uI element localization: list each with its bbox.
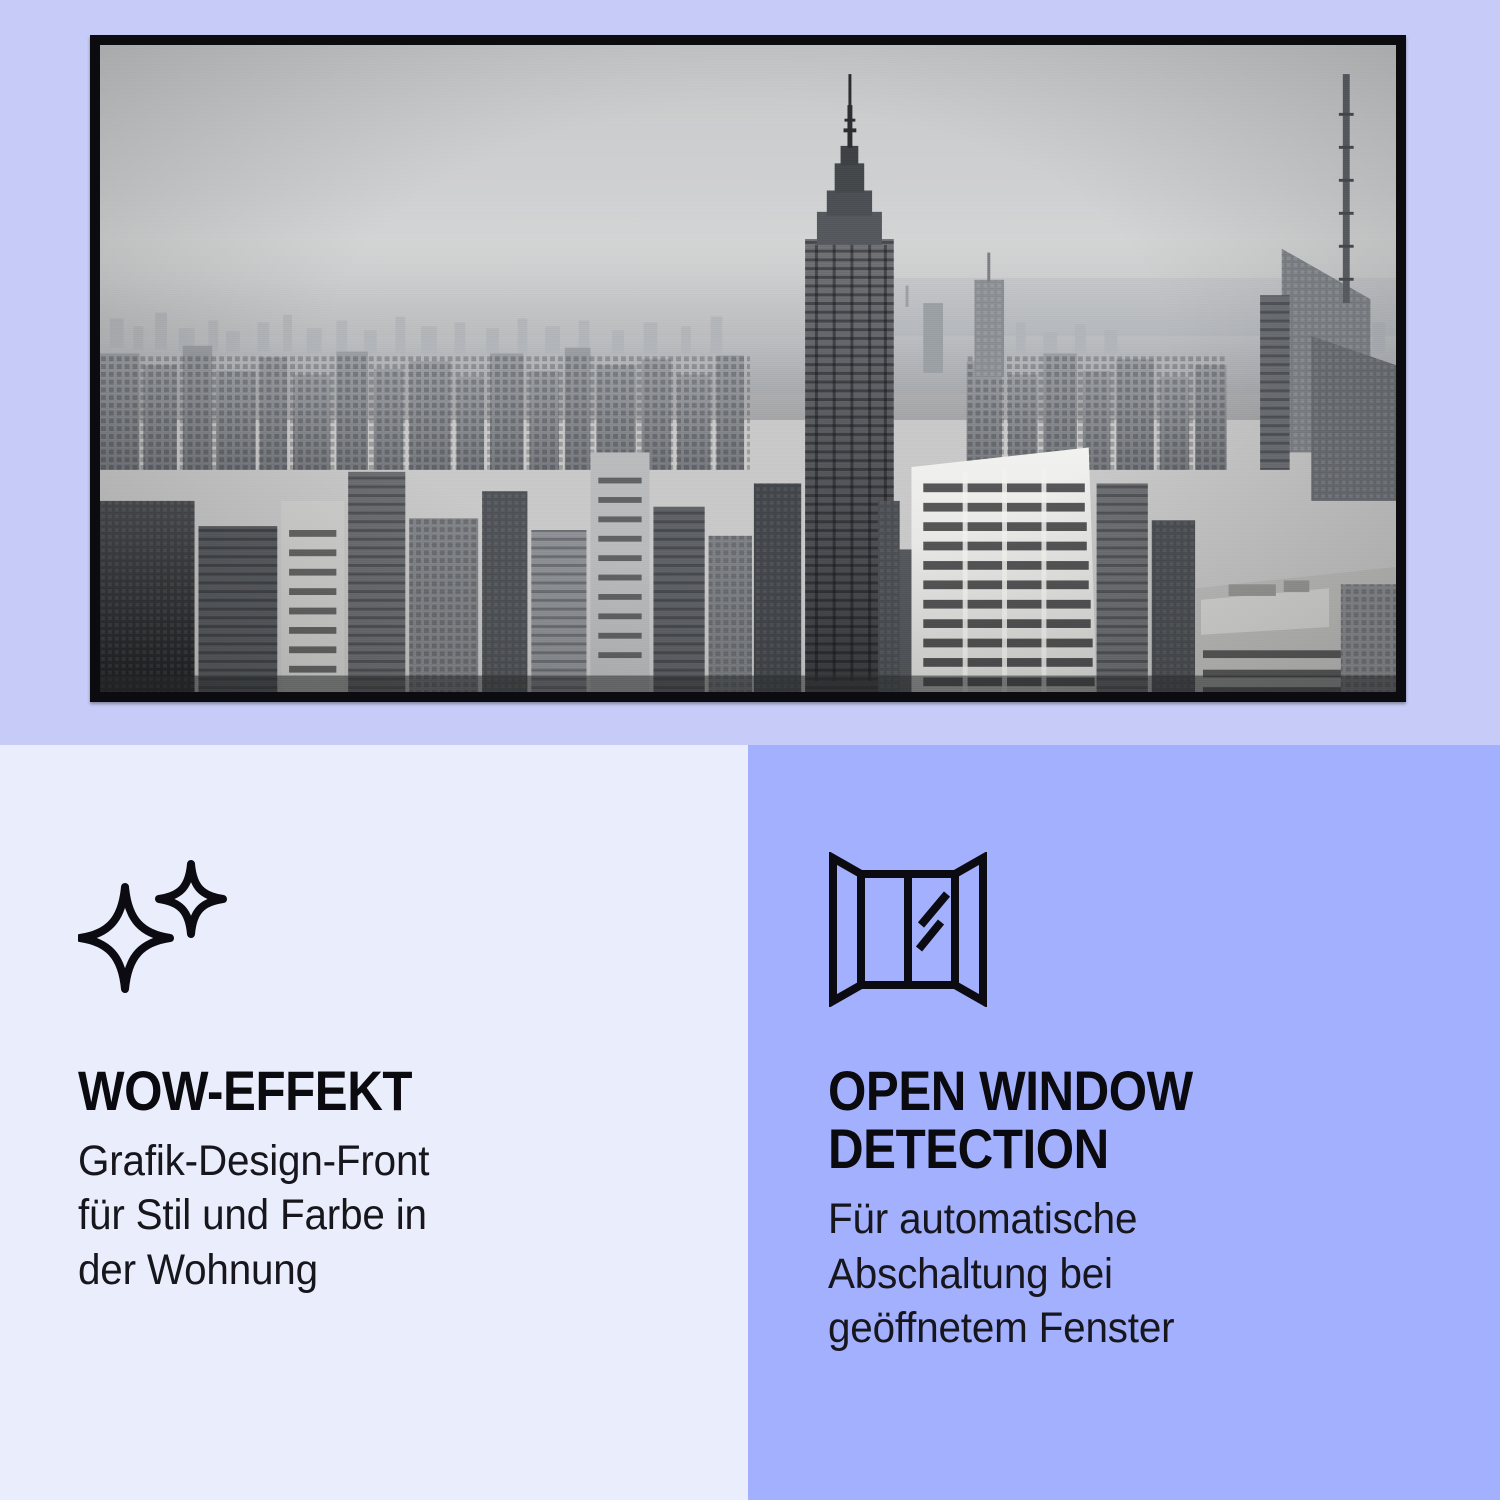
wow-effekt-text-block: WOW-EFFEKT Grafik-Design-Front für Stil …	[78, 1062, 678, 1297]
open-window-icon	[828, 852, 988, 1007]
photo-vignette	[100, 45, 1396, 692]
framed-artwork	[100, 45, 1396, 692]
panel-title-open-window-detection: OPEN WINDOW DETECTION	[828, 1062, 1374, 1178]
panel-body-open-window-detection: Für automatische Abschaltung bei geöffne…	[828, 1192, 1411, 1355]
panel-body-wow-effekt: Grafik-Design-Front für Stil und Farbe i…	[78, 1134, 642, 1297]
sparkle-icon	[78, 858, 228, 1004]
cityscape-photo	[100, 45, 1396, 692]
hero-section	[0, 0, 1500, 745]
panel-title-wow-effekt: WOW-EFFEKT	[78, 1062, 606, 1120]
product-feature-graphic: WOW-EFFEKT Grafik-Design-Front für Stil …	[0, 0, 1500, 1500]
open-window-detection-text-block: OPEN WINDOW DETECTION Für automatische A…	[828, 1062, 1448, 1355]
picture-frame	[90, 35, 1406, 702]
